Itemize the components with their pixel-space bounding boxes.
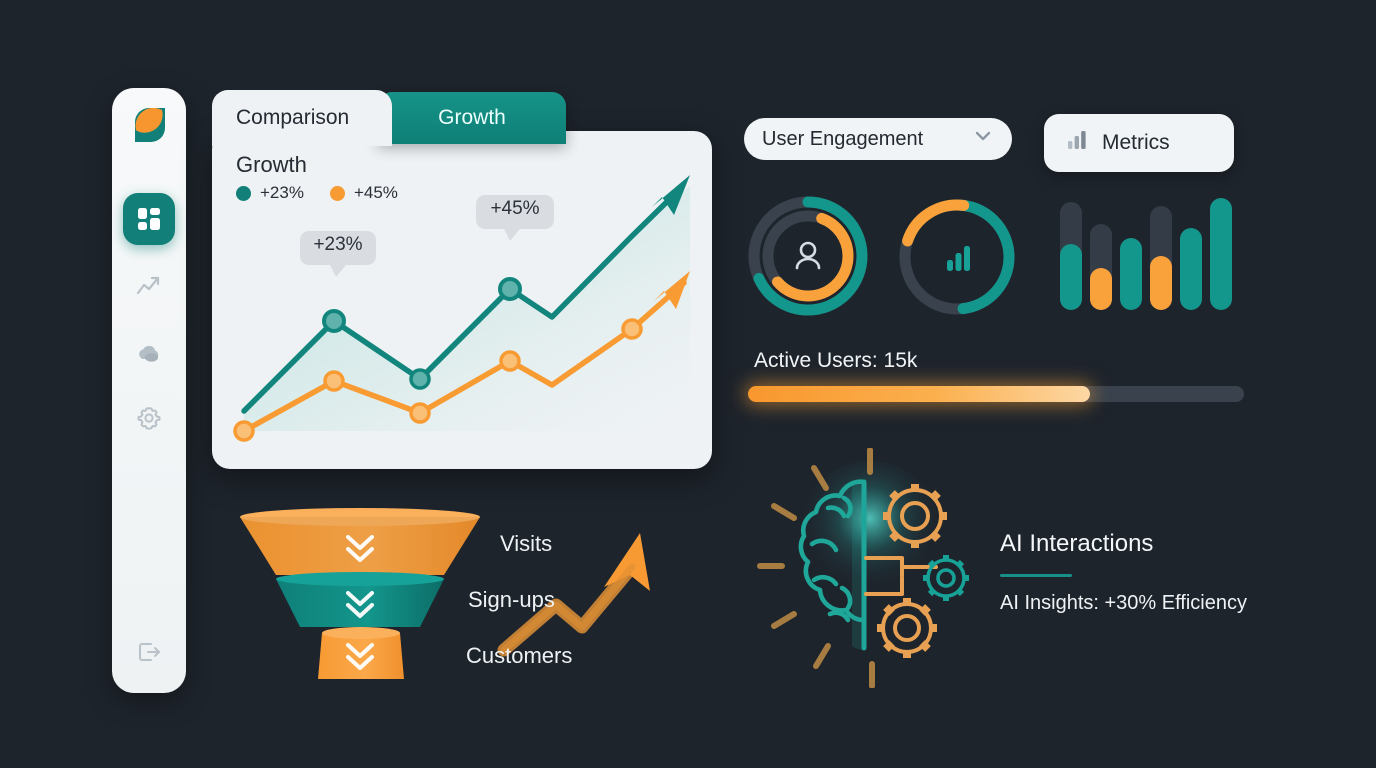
ai-section-divider: [1000, 574, 1072, 577]
data-point[interactable]: [623, 320, 641, 338]
tooltip-orange-label: +45%: [484, 198, 546, 220]
funnel-stage-signups[interactable]: [276, 572, 444, 627]
sidebar-item-settings[interactable]: [123, 392, 175, 444]
funnel-label-customers: Customers: [466, 643, 572, 669]
metrics-bar-chart[interactable]: [1058, 194, 1240, 312]
funnel-stage-visits[interactable]: [240, 508, 480, 575]
metrics-button-label: Metrics: [1102, 131, 1170, 155]
active-users-progress-bar[interactable]: [748, 386, 1244, 402]
active-users-progress-fill: [748, 386, 1090, 402]
growth-chart-card: Growth +23% +45%: [212, 131, 712, 469]
user-engagement-donut[interactable]: [744, 192, 872, 320]
dashboard-root: Growth Comparison Growth +23% +45%: [0, 0, 1376, 768]
logout-icon: [135, 638, 163, 666]
sidebar-item-cloud[interactable]: [123, 327, 175, 379]
chevron-down-icon: [972, 125, 994, 153]
user-engagement-dropdown-value: User Engagement: [762, 128, 923, 151]
gear-icon: [135, 404, 163, 432]
tab-comparison-label: Comparison: [236, 106, 349, 130]
active-users-label: Active Users: 15k: [754, 349, 917, 373]
growth-line-chart: [212, 131, 712, 469]
ai-insights-subtitle: AI Insights: +30% Efficiency: [1000, 592, 1247, 615]
funnel-label-visits: Visits: [500, 531, 552, 557]
trend-up-icon: [135, 272, 163, 300]
data-point[interactable]: [411, 404, 429, 422]
data-point[interactable]: [411, 370, 429, 388]
user-icon: [797, 243, 819, 268]
bar-chart-icon: [947, 246, 970, 271]
metrics-donut[interactable]: [892, 192, 1022, 322]
bar-chart-icon: [1066, 129, 1088, 157]
sidebar-item-dashboard[interactable]: [123, 193, 175, 245]
data-point[interactable]: [324, 311, 344, 331]
grid-icon: [136, 206, 162, 232]
tab-growth[interactable]: Growth: [378, 92, 566, 144]
cloud-icon: [135, 339, 163, 367]
ai-interactions-title: AI Interactions: [1000, 530, 1153, 558]
sidebar-item-analytics[interactable]: [123, 260, 175, 312]
metrics-button[interactable]: Metrics: [1044, 114, 1234, 172]
ai-brain-gears-illustration: [752, 448, 992, 688]
tab-comparison[interactable]: Comparison: [212, 90, 392, 146]
data-point[interactable]: [235, 422, 253, 440]
leaf-logo-icon[interactable]: [131, 108, 169, 146]
data-point[interactable]: [500, 279, 520, 299]
data-point[interactable]: [325, 372, 343, 390]
sidebar: [112, 88, 186, 693]
tooltip-teal-label: +23%: [308, 234, 368, 256]
gear-icon: [877, 598, 937, 658]
data-point[interactable]: [501, 352, 519, 370]
sidebar-item-logout[interactable]: [123, 626, 175, 678]
user-engagement-dropdown[interactable]: User Engagement: [744, 118, 1012, 160]
tab-growth-label: Growth: [438, 106, 506, 130]
funnel-label-signups: Sign-ups: [468, 587, 555, 613]
